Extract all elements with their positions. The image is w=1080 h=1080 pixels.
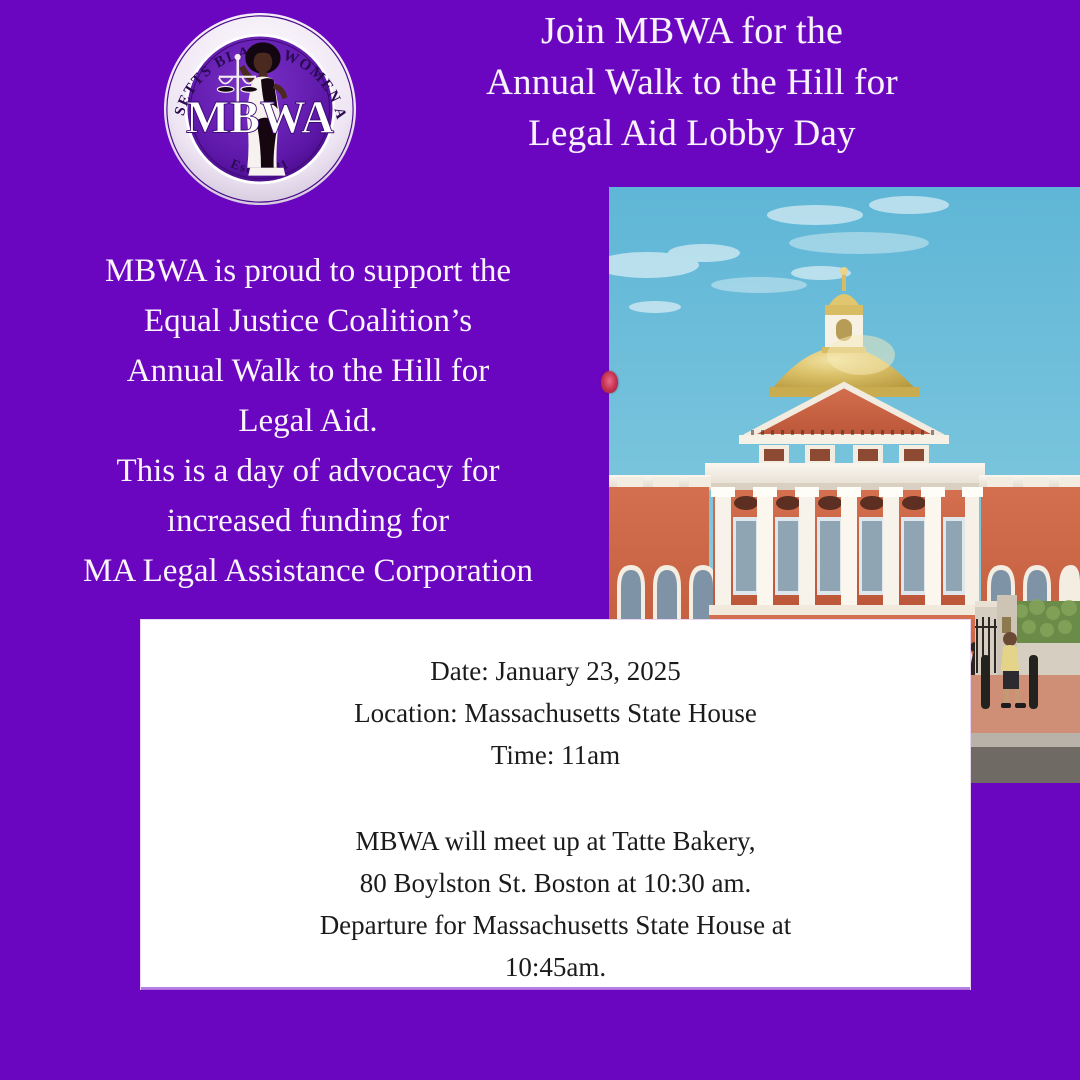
poster-body-copy: MBWA is proud to support the Equal Justi…	[4, 246, 612, 596]
event-details-card: Date: January 23, 2025 Location: Massach…	[141, 620, 970, 989]
colonnade	[709, 487, 983, 615]
body-line-5: This is a day of advocacy for	[4, 446, 612, 496]
event-time-line: Time: 11am	[141, 734, 970, 776]
meetup-line-2: 80 Boylston St. Boston at 10:30 am.	[141, 862, 970, 904]
body-line-2: Equal Justice Coalition’s	[4, 296, 612, 346]
event-location-line: Location: Massachusetts State House	[141, 692, 970, 734]
body-line-7: MA Legal Assistance Corporation	[4, 546, 612, 596]
body-line-6: increased funding for	[4, 496, 612, 546]
body-line-3: Annual Walk to the Hill for	[4, 346, 612, 396]
event-details-text: Date: January 23, 2025 Location: Massach…	[141, 650, 970, 988]
meetup-line-4: 10:45am.	[141, 946, 970, 988]
headline-line-3: Legal Aid Lobby Day	[372, 108, 1012, 159]
poster-canvas: MASSACHUSETTS BLACK WOMEN ATTORNEYS Est.…	[0, 0, 1080, 1080]
body-line-4: Legal Aid.	[4, 396, 612, 446]
meetup-line-1: MBWA will meet up at Tatte Bakery,	[141, 820, 970, 862]
sidewalk-scene	[969, 595, 1080, 783]
headline-line-2: Annual Walk to the Hill for	[372, 57, 1012, 108]
event-date-line: Date: January 23, 2025	[141, 650, 970, 692]
body-line-1: MBWA is proud to support the	[4, 246, 612, 296]
mbwa-seal-svg: MASSACHUSETTS BLACK WOMEN ATTORNEYS Est.…	[162, 11, 358, 207]
meetup-line-3: Departure for Massachusetts State House …	[141, 904, 970, 946]
mbwa-seal-logo: MASSACHUSETTS BLACK WOMEN ATTORNEYS Est.…	[162, 11, 358, 207]
headline-line-1: Join MBWA for the	[372, 6, 1012, 57]
poster-headline: Join MBWA for the Annual Walk to the Hil…	[372, 6, 1012, 159]
seal-center-text: MBWA	[186, 92, 334, 143]
card-bottom-edge	[141, 987, 970, 990]
